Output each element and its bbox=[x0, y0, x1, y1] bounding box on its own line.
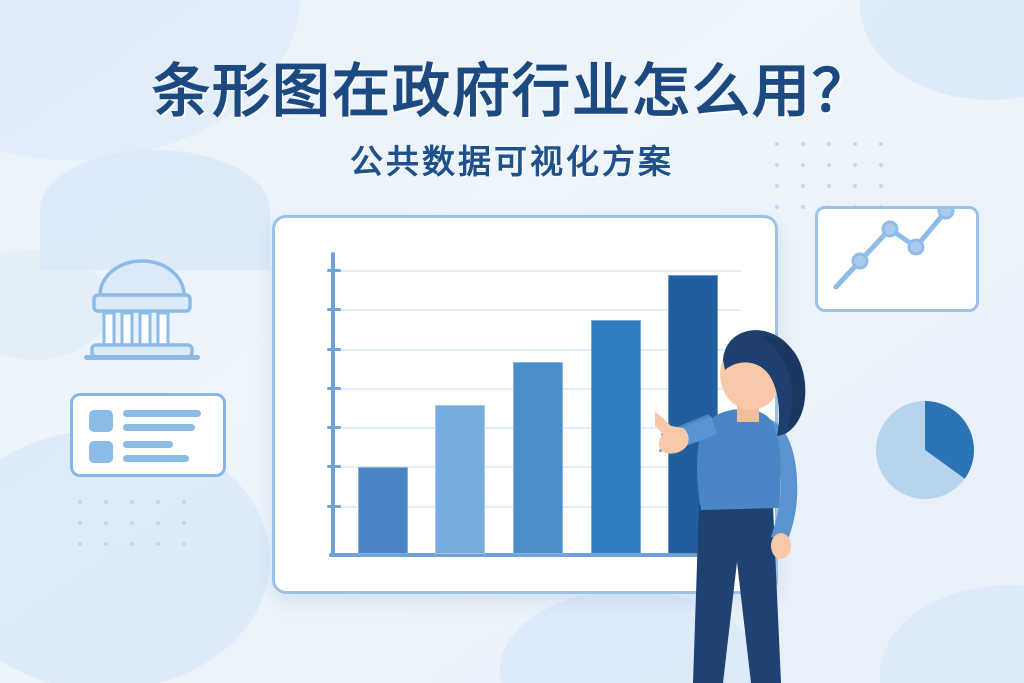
bar-2[interactable] bbox=[435, 405, 485, 554]
bar-4[interactable] bbox=[591, 320, 641, 554]
line-chart-svg bbox=[818, 209, 970, 303]
dot-grid-bottomleft bbox=[78, 500, 198, 564]
grid-dot bbox=[156, 521, 160, 525]
card-line-1 bbox=[123, 410, 201, 417]
line-point[interactable] bbox=[853, 254, 867, 268]
grid-dot bbox=[104, 500, 108, 504]
gridline bbox=[331, 270, 741, 272]
grid-dot bbox=[801, 205, 805, 209]
grid-dot bbox=[130, 500, 134, 504]
grid-dot bbox=[156, 542, 160, 546]
grid-dot bbox=[182, 542, 186, 546]
card-square-1 bbox=[89, 410, 113, 432]
line-point[interactable] bbox=[883, 222, 897, 236]
axis-tick bbox=[327, 348, 341, 351]
cloud-bottomright bbox=[880, 585, 1024, 683]
grid-dot bbox=[104, 542, 108, 546]
line-point[interactable] bbox=[939, 209, 953, 218]
line-point[interactable] bbox=[909, 240, 923, 254]
axis-tick bbox=[327, 505, 341, 508]
page-subtitle: 公共数据可视化方案 bbox=[0, 135, 1024, 183]
axis-tick bbox=[327, 308, 341, 311]
grid-dot bbox=[775, 184, 779, 188]
grid-dot bbox=[156, 500, 160, 504]
axis-tick bbox=[327, 465, 341, 468]
grid-dot bbox=[853, 184, 857, 188]
grid-dot bbox=[801, 184, 805, 188]
grid-dot bbox=[182, 521, 186, 525]
grid-dot bbox=[775, 205, 779, 209]
grid-dot bbox=[879, 184, 883, 188]
axis-tick bbox=[327, 269, 341, 272]
line-chart-card[interactable] bbox=[815, 206, 979, 312]
grid-dot bbox=[78, 500, 82, 504]
axis-tick bbox=[327, 426, 341, 429]
grid-dot bbox=[130, 542, 134, 546]
grid-dot bbox=[827, 184, 831, 188]
card-line-3 bbox=[123, 441, 173, 448]
pie-chart-svg bbox=[875, 400, 975, 500]
bar-1[interactable] bbox=[358, 467, 408, 554]
y-axis bbox=[331, 252, 335, 557]
grid-dot bbox=[130, 521, 134, 525]
grid-dot bbox=[182, 500, 186, 504]
grid-dot bbox=[78, 521, 82, 525]
grid-dot bbox=[78, 542, 82, 546]
axis-tick bbox=[327, 387, 341, 390]
card-square-2 bbox=[89, 441, 113, 463]
pie-chart[interactable] bbox=[875, 400, 975, 500]
page-title: 条形图在政府行业怎么用？ bbox=[0, 44, 1024, 128]
presenter-person bbox=[655, 330, 855, 683]
poster-canvas: 条形图在政府行业怎么用？ 公共数据可视化方案 bbox=[0, 0, 1024, 683]
card-line-2 bbox=[123, 424, 195, 431]
bar-3[interactable] bbox=[513, 362, 563, 554]
card-line-4 bbox=[123, 455, 189, 462]
government-building-icon bbox=[82, 253, 202, 361]
grid-dot bbox=[104, 521, 108, 525]
data-card-icon bbox=[70, 393, 226, 477]
